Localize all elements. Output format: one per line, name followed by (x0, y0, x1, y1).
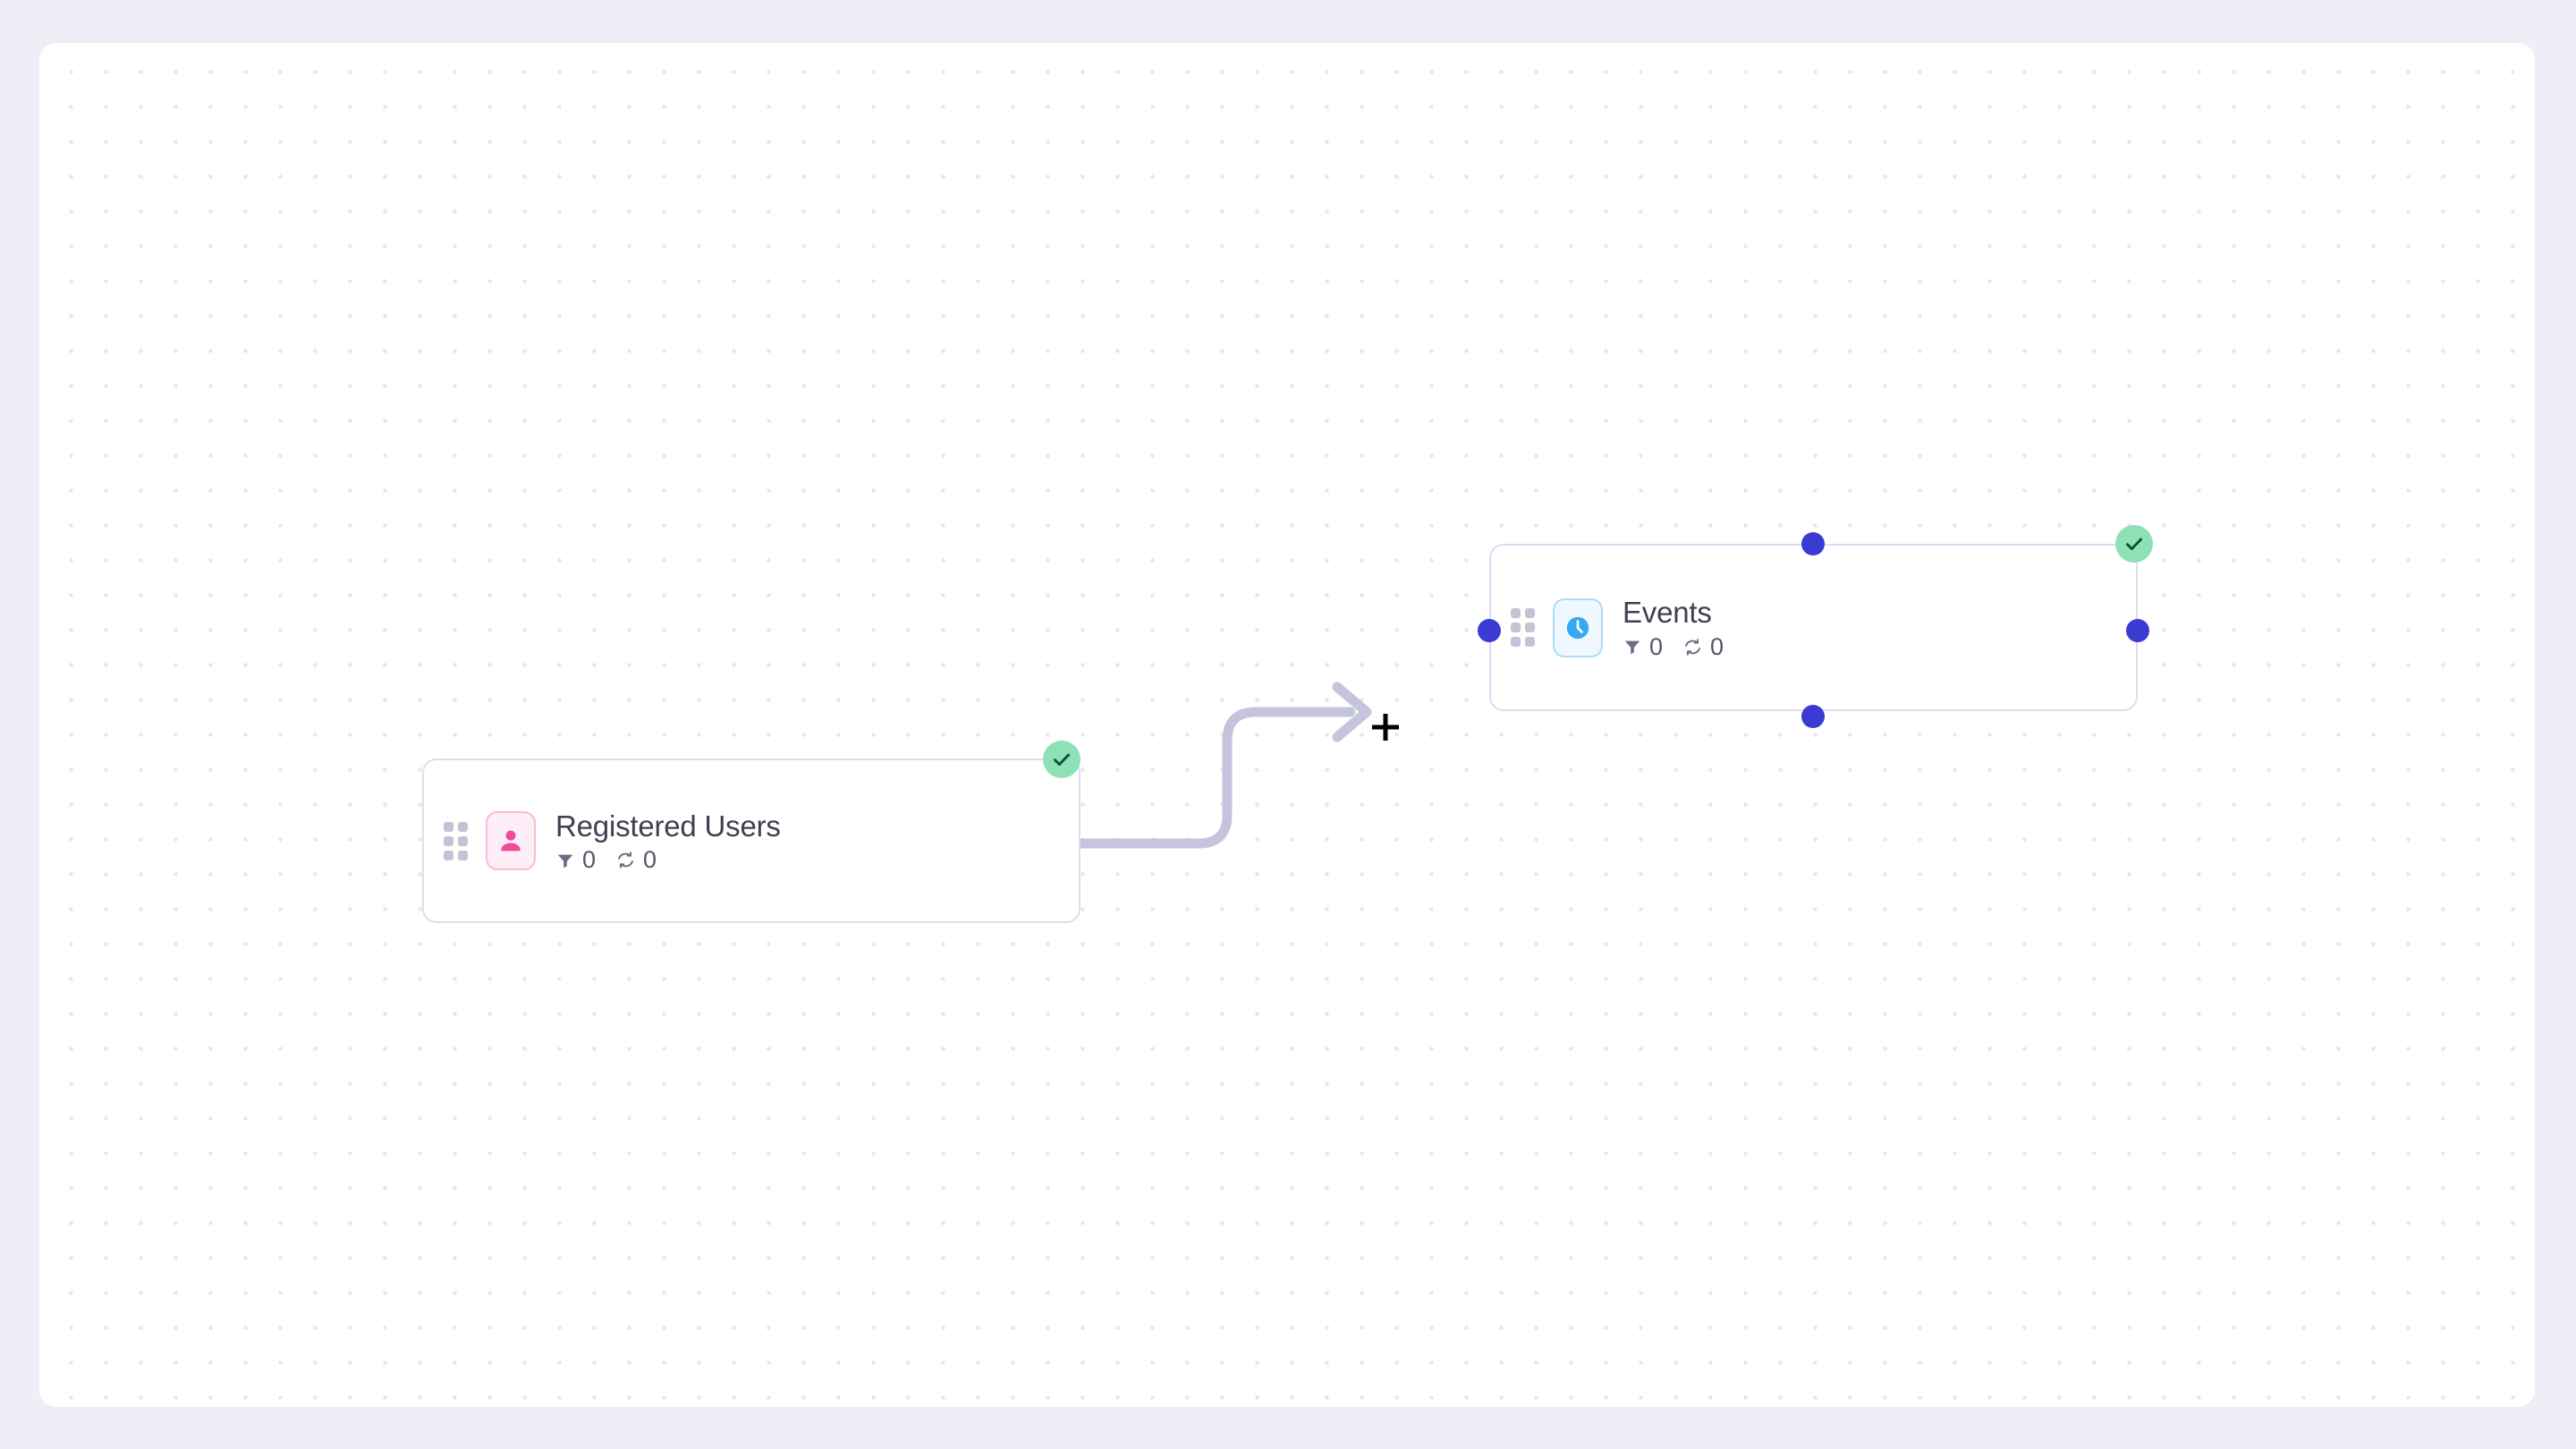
connection-handle-left[interactable] (1478, 619, 1501, 642)
refresh-icon (1682, 637, 1703, 657)
metric-filter[interactable]: 0 (1623, 635, 1663, 659)
node-events[interactable]: Events 0 0 (1489, 544, 2138, 711)
metric-refresh-value: 0 (1710, 635, 1724, 659)
node-title: Registered Users (555, 809, 781, 843)
node-text-block: Events 0 0 (1623, 596, 1724, 659)
connection-handle-right[interactable] (2126, 619, 2149, 642)
node-title: Events (1623, 596, 1724, 630)
check-icon (1050, 748, 1073, 771)
node-registered-users[interactable]: Registered Users 0 0 (422, 758, 1080, 923)
metric-refresh-value: 0 (643, 848, 657, 872)
filter-icon (555, 851, 575, 870)
drag-handle-icon[interactable] (444, 822, 468, 860)
filter-icon (1623, 637, 1642, 657)
clock-icon (1553, 598, 1603, 657)
metric-filter[interactable]: 0 (555, 848, 596, 872)
person-icon (486, 811, 536, 870)
drag-handle-icon[interactable] (1511, 608, 1535, 647)
refresh-icon (615, 850, 636, 870)
status-badge-registered-users[interactable] (1043, 741, 1080, 778)
metric-refresh[interactable]: 0 (1682, 635, 1724, 659)
metric-filter-value: 0 (1649, 635, 1663, 659)
check-icon (2123, 532, 2146, 555)
metric-refresh[interactable]: 0 (615, 848, 657, 872)
node-text-block: Registered Users 0 0 (555, 809, 781, 873)
flow-canvas[interactable] (39, 43, 2535, 1407)
node-metrics: 0 0 (1623, 635, 1724, 659)
connection-handle-top[interactable] (1801, 532, 1825, 555)
connection-handle-bottom[interactable] (1801, 705, 1825, 728)
status-badge-events[interactable] (2115, 525, 2153, 563)
node-metrics: 0 0 (555, 848, 781, 872)
metric-filter-value: 0 (582, 848, 596, 872)
